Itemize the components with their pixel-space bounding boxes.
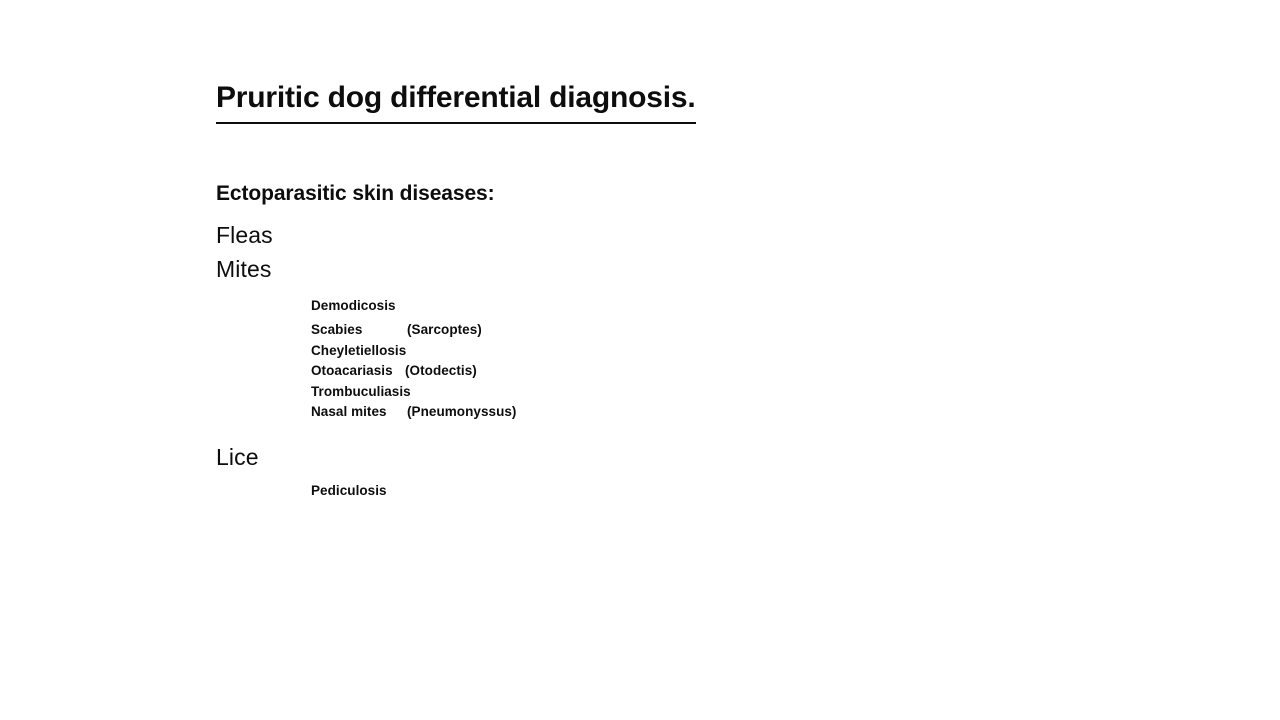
list-item: Nasal mites(Pneumonyssus): [311, 402, 1116, 423]
lice-sublist: Pediculosis: [216, 481, 1116, 502]
mites-sublist: Demodicosis Scabies(Sarcoptes) Cheyletie…: [216, 296, 1116, 423]
sub-item-genus: (Sarcoptes): [407, 320, 482, 341]
sub-item-name: Trombuculiasis: [311, 382, 411, 403]
section-heading: Ectoparasitic skin diseases:: [216, 180, 1116, 208]
sub-item-name: Scabies: [311, 320, 407, 341]
spacer: [216, 423, 1116, 440]
list-item: Otoacariasis(Otodectis): [311, 361, 1116, 382]
list-item: Cheyletiellosis: [311, 341, 1116, 362]
list-item: Pediculosis: [311, 481, 1116, 502]
list-item-fleas: Fleas: [216, 218, 1116, 252]
list-item: Demodicosis: [311, 296, 1116, 317]
spacer: [216, 474, 1116, 481]
sub-item-genus: (Pneumonyssus): [407, 402, 516, 423]
list-item: Scabies(Sarcoptes): [311, 320, 1116, 341]
list-item-mites: Mites: [216, 252, 1116, 286]
slide-body: Ectoparasitic skin diseases: Fleas Mites…: [216, 180, 1116, 501]
spacer: [216, 286, 1116, 296]
list-item-lice: Lice: [216, 440, 1116, 474]
sub-item-name: Otoacariasis: [311, 361, 405, 382]
sub-item-name: Cheyletiellosis: [311, 341, 406, 362]
sub-item-genus: (Otodectis): [405, 361, 477, 382]
slide-title-text: Pruritic dog differential diagnosis.: [216, 78, 696, 124]
sub-item-name: Demodicosis: [311, 296, 396, 317]
slide-title: Pruritic dog differential diagnosis.: [216, 78, 696, 124]
slide-canvas: Pruritic dog differential diagnosis. Ect…: [0, 0, 1280, 720]
list-item: Trombuculiasis: [311, 382, 1116, 403]
sub-item-name: Pediculosis: [311, 481, 387, 502]
sub-item-name: Nasal mites: [311, 402, 407, 423]
